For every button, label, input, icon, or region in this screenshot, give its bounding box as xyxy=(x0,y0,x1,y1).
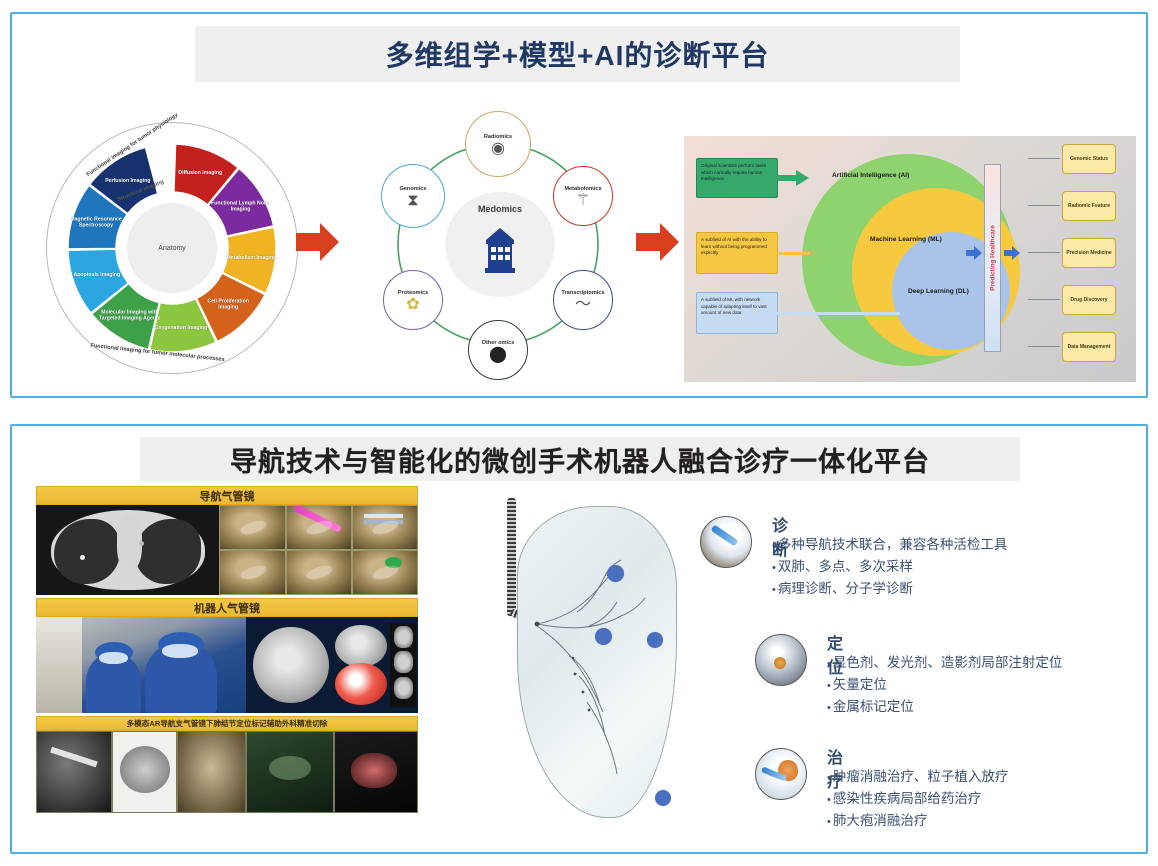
trachea-icon xyxy=(507,498,516,616)
procedure-image-stack: 导航气管镜 xyxy=(36,486,418,831)
list-item: 肺大疱消融治疗 xyxy=(827,810,1008,832)
omics-figure: Medomics Radiomics◉Metabolomics⚚Transcri… xyxy=(335,104,655,389)
bronchoscopy-frame xyxy=(219,550,285,595)
ai-output-box: Precision Medicine xyxy=(1062,238,1116,268)
lung-anatomy-figure xyxy=(455,490,705,835)
omics-node-proteomics: Proteomics✿ xyxy=(383,270,443,330)
bronchoscopy-frame xyxy=(219,505,285,550)
marker-dye-icon xyxy=(755,634,807,686)
list-item: 感染性疾病局部给药治疗 xyxy=(827,788,1008,810)
ellipsis-icon: ⬤ xyxy=(489,347,507,363)
connector-arrow-ai xyxy=(776,170,810,186)
connector-line-dl xyxy=(776,312,900,315)
list-item: 肿瘤消融治疗、粒子植入放疗 xyxy=(827,766,1008,788)
arrow-omics-to-ai xyxy=(636,222,680,262)
wheel-segment-label: Apoptosis Imaging xyxy=(66,272,128,279)
wheel-segment-label: Diffusion Imaging xyxy=(169,170,231,177)
slide-canvas: 多维组学+模型+AI的诊断平台 Anatomy Structural imagi… xyxy=(0,0,1158,866)
list-item: 显色剂、发光剂、造影剂局部注射定位 xyxy=(827,652,1062,674)
wheel-hub-label: Anatomy xyxy=(158,245,186,252)
ai-label-artificial-intelligence: Artificial Intelligence (AI) xyxy=(832,172,909,179)
connector-line-ml xyxy=(776,252,810,255)
list-item: 矢量定位 xyxy=(827,674,1062,696)
ai-output-connector xyxy=(1028,252,1060,253)
image-row-label-navigation-bronchoscopy: 导航气管镜 xyxy=(36,486,418,505)
ablation-icon xyxy=(755,748,807,800)
omics-node-transcriptomics: Transcriptomics〜 xyxy=(553,270,613,330)
wheel-segment-label: Oxygenation Imaging xyxy=(150,324,212,331)
ai-output-connector xyxy=(1028,158,1060,159)
predicting-healthcare-label: Predicting Healthcare xyxy=(989,225,996,291)
list-item: 双肺、多点、多次采样 xyxy=(772,556,1007,578)
rna-icon: 〜 xyxy=(575,297,591,313)
list-item: 金属标记定位 xyxy=(827,696,1062,718)
molecule-icon: ⚚ xyxy=(576,193,590,209)
bronchoscopy-frame xyxy=(286,550,352,595)
image-row-navigation xyxy=(36,505,418,595)
list-item: 多种导航技术联合，兼容各种活检工具 xyxy=(772,534,1007,556)
wheel-hub: Anatomy xyxy=(124,200,220,296)
ai-output-connector xyxy=(1028,299,1060,300)
omics-node-radiomics: Radiomics◉ xyxy=(465,111,531,177)
ai-description-box-dl: A subfield of ML with network capable of… xyxy=(696,292,778,334)
biopsy-needle-icon xyxy=(700,516,752,568)
ai-output-box: Radiomic Feature xyxy=(1062,191,1116,221)
building-icon xyxy=(480,226,520,276)
bronchoscopy-image-grid xyxy=(219,505,418,595)
wheel-segment-label: Functional Lymph Node Imaging xyxy=(210,200,272,213)
ar-frame xyxy=(36,731,112,813)
omics-node-metabolomics: Metabolomics⚚ xyxy=(553,166,613,226)
image-row-label-ar-navigation: 多模态AR导航支气管镜下肺结节定位标记辅助外科精准切除 xyxy=(36,716,418,731)
page-title-bottom: 导航技术与智能化的微创手术机器人融合诊疗一体化平台 xyxy=(230,440,930,479)
omics-node-other-omics: Other omics⬤ xyxy=(468,320,528,380)
clinical-block-list: 显色剂、发光剂、造影剂局部注射定位 矢量定位 金属标记定位 xyxy=(827,652,1062,718)
lung-nodule-marker xyxy=(647,632,663,648)
wheel-segment-label: Molecular Imaging with Targeted Imaging … xyxy=(99,309,161,322)
arrow-into-predicting xyxy=(966,246,982,260)
omics-node-genomics: Genomics⧗ xyxy=(381,164,445,228)
imaging-wheel-figure: Anatomy Structural imaging Functional im… xyxy=(38,118,308,380)
xray-strip xyxy=(390,623,416,707)
bronchoscopy-frame xyxy=(286,505,352,550)
ar-frame xyxy=(112,731,177,813)
ct-scan-image xyxy=(36,505,219,595)
protein-icon: ✿ xyxy=(406,297,419,313)
ai-description-box-ai: Original scientists perform tasks which … xyxy=(696,158,778,198)
image-row-ar-navigation xyxy=(36,731,418,813)
panel-top-title-band: 多维组学+模型+AI的诊断平台 xyxy=(195,26,960,82)
wheel-segment-label: Magnetic Resonance Spectroscopy xyxy=(65,216,127,229)
arrow-wheel-to-omics xyxy=(296,222,340,262)
clinical-block-list: 肿瘤消融治疗、粒子植入放疗 感染性疾病局部给药治疗 肺大疱消融治疗 xyxy=(827,766,1008,832)
scope-and-xray-panel xyxy=(246,617,418,713)
ar-frame xyxy=(177,731,246,813)
ai-output-box: Data Management xyxy=(1062,332,1116,362)
arrow-out-of-predicting xyxy=(1004,246,1020,260)
wheel-segment-label: Cell Proliferation Imaging xyxy=(197,298,259,311)
dna-icon: ⧗ xyxy=(407,193,418,209)
ai-output-connector xyxy=(1028,346,1060,347)
list-item: 病理诊断、分子学诊断 xyxy=(772,578,1007,600)
page-title-top: 多维组学+模型+AI的诊断平台 xyxy=(386,34,770,74)
image-row-label-robotic-bronchoscopy: 机器人气管镜 xyxy=(36,598,418,617)
ar-frame xyxy=(246,731,334,813)
image-row-robotic xyxy=(36,617,418,713)
predicting-healthcare-box: Predicting Healthcare xyxy=(984,164,1001,352)
clinical-block-list: 多种导航技术联合，兼容各种活检工具 双肺、多点、多次采样 病理诊断、分子学诊断 xyxy=(772,534,1007,600)
lung-nodule-marker xyxy=(607,565,624,582)
lung-nodule-marker xyxy=(655,790,671,806)
operating-room-photo xyxy=(36,617,246,713)
ai-label-deep-learning: Deep Learning (DL) xyxy=(908,288,969,295)
bronchoscopy-frame xyxy=(352,505,418,550)
bronchoscopy-frame xyxy=(352,550,418,595)
omics-center-label: Medomics xyxy=(445,204,555,214)
ar-frame xyxy=(334,731,418,813)
panel-bottom-title-band: 导航技术与智能化的微创手术机器人融合诊疗一体化平台 xyxy=(140,437,1020,481)
lung-nodule-marker xyxy=(595,628,612,645)
ai-output-box: Genomic Status xyxy=(1062,144,1116,174)
ai-description-box-ml: A subfield of AI with the ability to lea… xyxy=(696,232,778,274)
airway-tree-icon xyxy=(517,506,677,818)
wheel-segment-label: Metabolism Imaging xyxy=(220,255,282,262)
ai-label-machine-learning: Machine Learning (ML) xyxy=(870,236,942,243)
ai-output-connector xyxy=(1028,205,1060,206)
ai-ml-dl-figure: Artificial Intelligence (AI) Machine Lea… xyxy=(684,136,1136,382)
ai-output-box: Drug Discovery xyxy=(1062,285,1116,315)
scan-icon: ◉ xyxy=(491,141,505,157)
wheel-segment-label: Perfusion Imaging xyxy=(97,178,159,185)
